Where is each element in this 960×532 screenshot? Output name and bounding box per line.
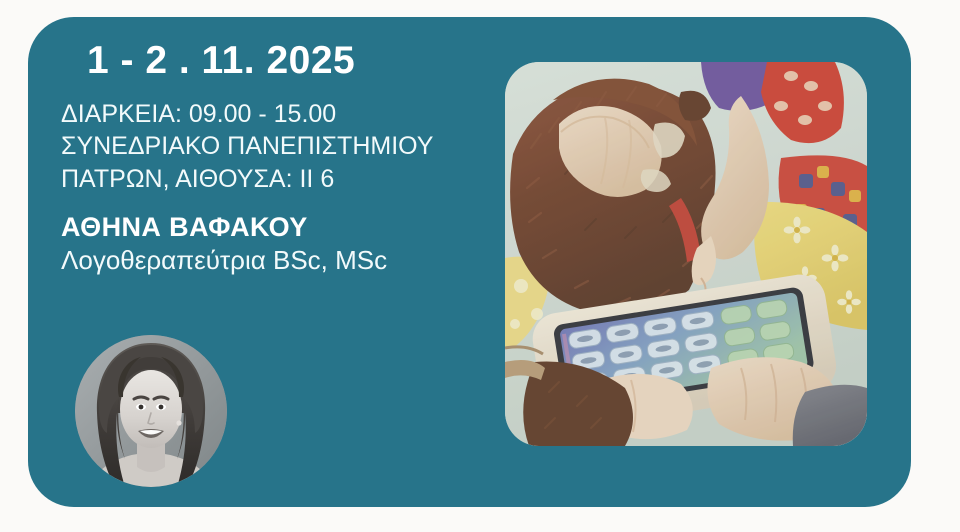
speaker-title: Λογοθεραπεύτρια BSc, MSc (61, 245, 501, 276)
text-column: 1 - 2 . 11. 2025 ΔΙΑΡΚΕΙΑ: 09.00 - 15.00… (61, 41, 501, 276)
poster-canvas: 1 - 2 . 11. 2025 ΔΙΑΡΚΕΙΑ: 09.00 - 15.00… (0, 0, 960, 532)
teal-panel: 1 - 2 . 11. 2025 ΔΙΑΡΚΕΙΑ: 09.00 - 15.00… (28, 17, 911, 507)
event-venue-line-2: ΠΑΤΡΩΝ, ΑΙΘΟΥΣΑ: ΙΙ 6 (61, 163, 501, 196)
event-duration: ΔΙΑΡΚΕΙΑ: 09.00 - 15.00 (61, 98, 501, 131)
speaker-name: ΑΘΗΝΑ ΒΑΦΑΚΟΥ (61, 212, 501, 243)
event-venue-line-1: ΣΥΝΕΔΡΙΑΚΟ ΠΑΝΕΠΙΣΤΗΜΙΟΥ (61, 130, 501, 163)
session-photo (505, 62, 867, 446)
speaker-portrait-avatar (75, 335, 227, 487)
event-date: 1 - 2 . 11. 2025 (87, 41, 501, 82)
